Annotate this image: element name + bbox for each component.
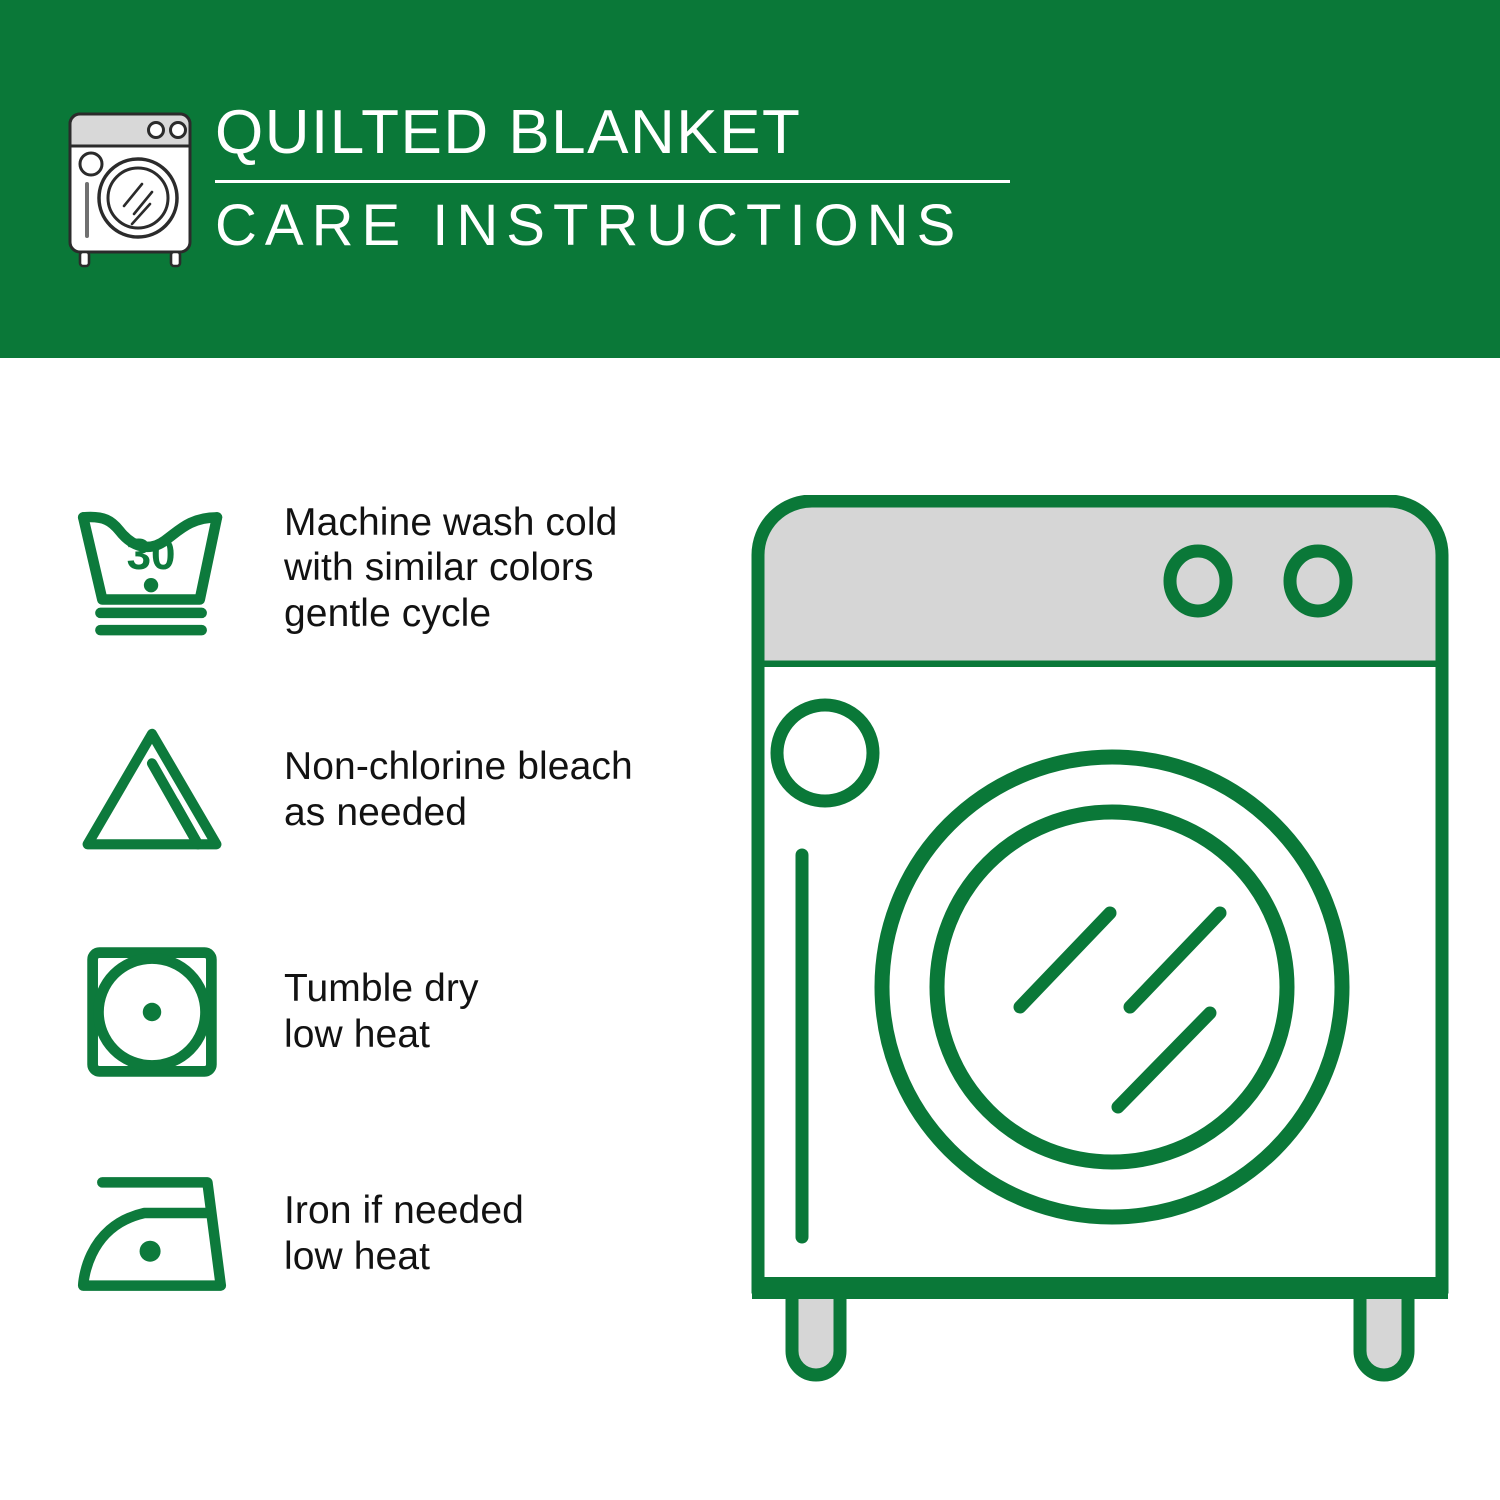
wash-temperature-label: 30 xyxy=(127,530,176,579)
instruction-line: as needed xyxy=(284,790,633,836)
instruction-line: gentle cycle xyxy=(284,591,617,637)
page-subtitle: CARE INSTRUCTIONS xyxy=(215,197,1015,255)
instruction-line: with similar colors xyxy=(284,545,617,591)
list-item: Tumble dry low heat xyxy=(0,914,740,1110)
instruction-line: Non-chlorine bleach xyxy=(284,744,633,790)
instruction-line: low heat xyxy=(284,1234,524,1280)
knob-icon xyxy=(1170,551,1226,611)
washer-leg xyxy=(1360,1299,1408,1375)
instruction-text: Tumble dry low heat xyxy=(284,966,479,1057)
instruction-text: Machine wash cold with similar colors ge… xyxy=(284,500,617,637)
instruction-line: low heat xyxy=(284,1012,479,1058)
instruction-text: Iron if needed low heat xyxy=(284,1188,524,1279)
wash-tub-30-icon: 30 xyxy=(62,496,242,640)
detergent-dispenser-icon xyxy=(777,705,873,801)
instruction-text: Non-chlorine bleach as needed xyxy=(284,744,633,835)
iron-low-heat-icon xyxy=(62,1167,242,1301)
header-banner: QUILTED BLANKET CARE INSTRUCTIONS xyxy=(0,0,1500,358)
page-title: QUILTED BLANKET xyxy=(215,102,1015,164)
front-load-washing-machine-illustration xyxy=(740,495,1460,1435)
list-item: Iron if needed low heat xyxy=(0,1136,740,1332)
list-item: Non-chlorine bleach as needed xyxy=(0,692,740,888)
header-title-group: QUILTED BLANKET CARE INSTRUCTIONS xyxy=(215,102,1015,255)
instruction-line: Machine wash cold xyxy=(284,500,617,546)
care-instruction-list: 30 Machine wash cold with similar colors… xyxy=(0,470,740,1358)
knob-icon xyxy=(1290,551,1346,611)
care-instructions-infographic: QUILTED BLANKET CARE INSTRUCTIONS 30 xyxy=(0,0,1500,1500)
title-divider xyxy=(215,180,1010,183)
washing-machine-icon xyxy=(62,108,198,268)
washer-leg xyxy=(792,1299,840,1375)
washer-base xyxy=(752,1277,1448,1299)
list-item: 30 Machine wash cold with similar colors… xyxy=(0,470,740,666)
non-chlorine-bleach-triangle-icon xyxy=(62,721,242,859)
tumble-dry-low-icon xyxy=(62,939,242,1085)
instruction-line: Tumble dry xyxy=(284,966,479,1012)
instruction-line: Iron if needed xyxy=(284,1188,524,1234)
